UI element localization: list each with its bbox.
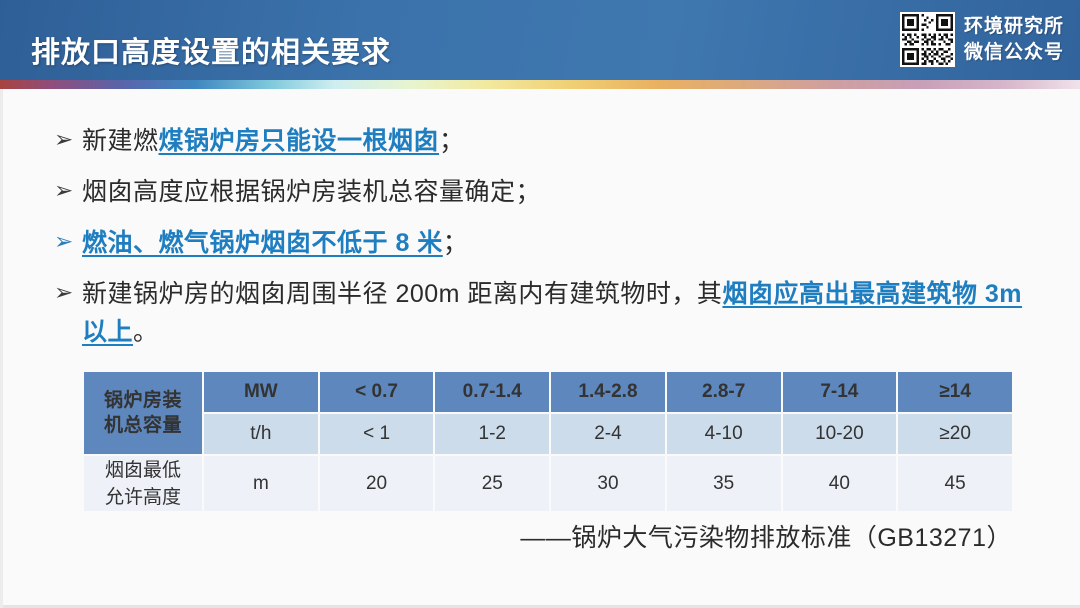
table-cell-mw-3: 2.8-7 (666, 371, 782, 413)
table-row: 烟囱最低 允许高度 m 20 25 30 35 40 45 (83, 455, 1013, 512)
table-cell-mw-1: 0.7-1.4 (434, 371, 550, 413)
table-cell-mw-4: 7-14 (782, 371, 898, 413)
table-cell-th-3: 4-10 (666, 413, 782, 455)
bullet-list: ➢ 新建燃煤锅炉房只能设一根烟囱； ➢ 烟囱高度应根据锅炉房装机总容量确定； ➢… (50, 122, 1035, 364)
rowheader2-line-1: 烟囱最低 (84, 457, 202, 484)
boiler-height-table: 锅炉房装 机总容量 MW < 0.7 0.7-1.4 1.4-2.8 2.8-7… (82, 370, 1014, 513)
table-cell-th-1: 1-2 (434, 413, 550, 455)
table-cell-th-0: < 1 (319, 413, 435, 455)
list-item: ➢ 新建燃煤锅炉房只能设一根烟囱； (50, 122, 1035, 160)
bullet-segment-plain: 。 (133, 318, 159, 346)
slide-root: 排放口高度设置的相关要求 (0, 0, 1080, 608)
bullet-text: 新建燃煤锅炉房只能设一根烟囱； (82, 122, 1035, 160)
list-item: ➢ 新建锅炉房的烟囱周围半径 200m 距离内有建筑物时，其烟囱应高出最高建筑物… (50, 275, 1035, 351)
bullet-arrow-icon: ➢ (50, 224, 82, 258)
brand-text: 环境研究所 微信公众号 (964, 14, 1064, 65)
bullet-segment-plain: 烟囱高度应根据锅炉房装机总容量确定； (82, 178, 541, 206)
brand-line-2: 微信公众号 (964, 40, 1064, 65)
table-row: 锅炉房装 机总容量 MW < 0.7 0.7-1.4 1.4-2.8 2.8-7… (83, 371, 1013, 413)
brand-block: 环境研究所 微信公众号 (900, 12, 1064, 67)
bullet-segment-plain: ； (439, 127, 465, 155)
bullet-arrow-icon: ➢ (50, 173, 82, 207)
bullet-arrow-icon: ➢ (50, 122, 82, 156)
qr-code-icon (900, 12, 955, 67)
table-cell-height-0: 20 (319, 455, 435, 512)
source-footnote: ——锅炉大气污染物排放标准（GB13271） (0, 518, 1012, 554)
table-cell-th-4: 10-20 (782, 413, 898, 455)
table-cell-th-5: ≥20 (897, 413, 1013, 455)
slide-header: 排放口高度设置的相关要求 (0, 0, 1080, 80)
rowheader-line-1: 锅炉房装 (84, 388, 202, 413)
table-cell-height-5: 45 (897, 455, 1013, 512)
bullet-segment-highlight: 燃油、燃气锅炉烟囱不低于 8 米 (82, 229, 443, 257)
table-cell-height-2: 30 (550, 455, 666, 512)
rowheader-line-2: 机总容量 (84, 413, 202, 438)
bullet-arrow-icon: ➢ (50, 275, 82, 309)
table-rowheader-min-height: 烟囱最低 允许高度 (83, 455, 203, 512)
table-cell-height-1: 25 (434, 455, 550, 512)
page-title: 排放口高度设置的相关要求 (31, 29, 391, 71)
table-cell-mw-5: ≥14 (897, 371, 1013, 413)
list-item: ➢ 烟囱高度应根据锅炉房装机总容量确定； (50, 173, 1035, 211)
bullet-segment-plain: 新建燃 (82, 127, 159, 155)
bullet-segment-highlight: 煤锅炉房只能设一根烟囱 (159, 127, 440, 155)
rowheader2-line-2: 允许高度 (84, 484, 202, 511)
rainbow-divider (0, 80, 1080, 89)
spec-table-wrapper: 锅炉房装 机总容量 MW < 0.7 0.7-1.4 1.4-2.8 2.8-7… (82, 370, 1014, 513)
table-cell-th-2: 2-4 (550, 413, 666, 455)
table-cell-unit-mw: MW (203, 371, 319, 413)
bullet-text: 燃油、燃气锅炉烟囱不低于 8 米； (82, 224, 1035, 262)
page-edge-left (0, 89, 3, 608)
table-cell-unit-m: m (203, 455, 319, 512)
table-cell-unit-th: t/h (203, 413, 319, 455)
brand-line-1: 环境研究所 (964, 14, 1064, 39)
table-rowheader-capacity: 锅炉房装 机总容量 (83, 371, 203, 455)
bullet-text: 新建锅炉房的烟囱周围半径 200m 距离内有建筑物时，其烟囱应高出最高建筑物 3… (82, 275, 1035, 351)
list-item: ➢ 燃油、燃气锅炉烟囱不低于 8 米； (50, 224, 1035, 262)
bullet-segment-plain: 新建锅炉房的烟囱周围半径 200m 距离内有建筑物时，其 (82, 280, 722, 308)
table-cell-mw-0: < 0.7 (319, 371, 435, 413)
table-cell-height-3: 35 (666, 455, 782, 512)
table-cell-mw-2: 1.4-2.8 (550, 371, 666, 413)
bullet-text: 烟囱高度应根据锅炉房装机总容量确定； (82, 173, 1035, 211)
table-row: t/h < 1 1-2 2-4 4-10 10-20 ≥20 (83, 413, 1013, 455)
bullet-segment-plain: ； (443, 229, 469, 257)
table-cell-height-4: 40 (782, 455, 898, 512)
